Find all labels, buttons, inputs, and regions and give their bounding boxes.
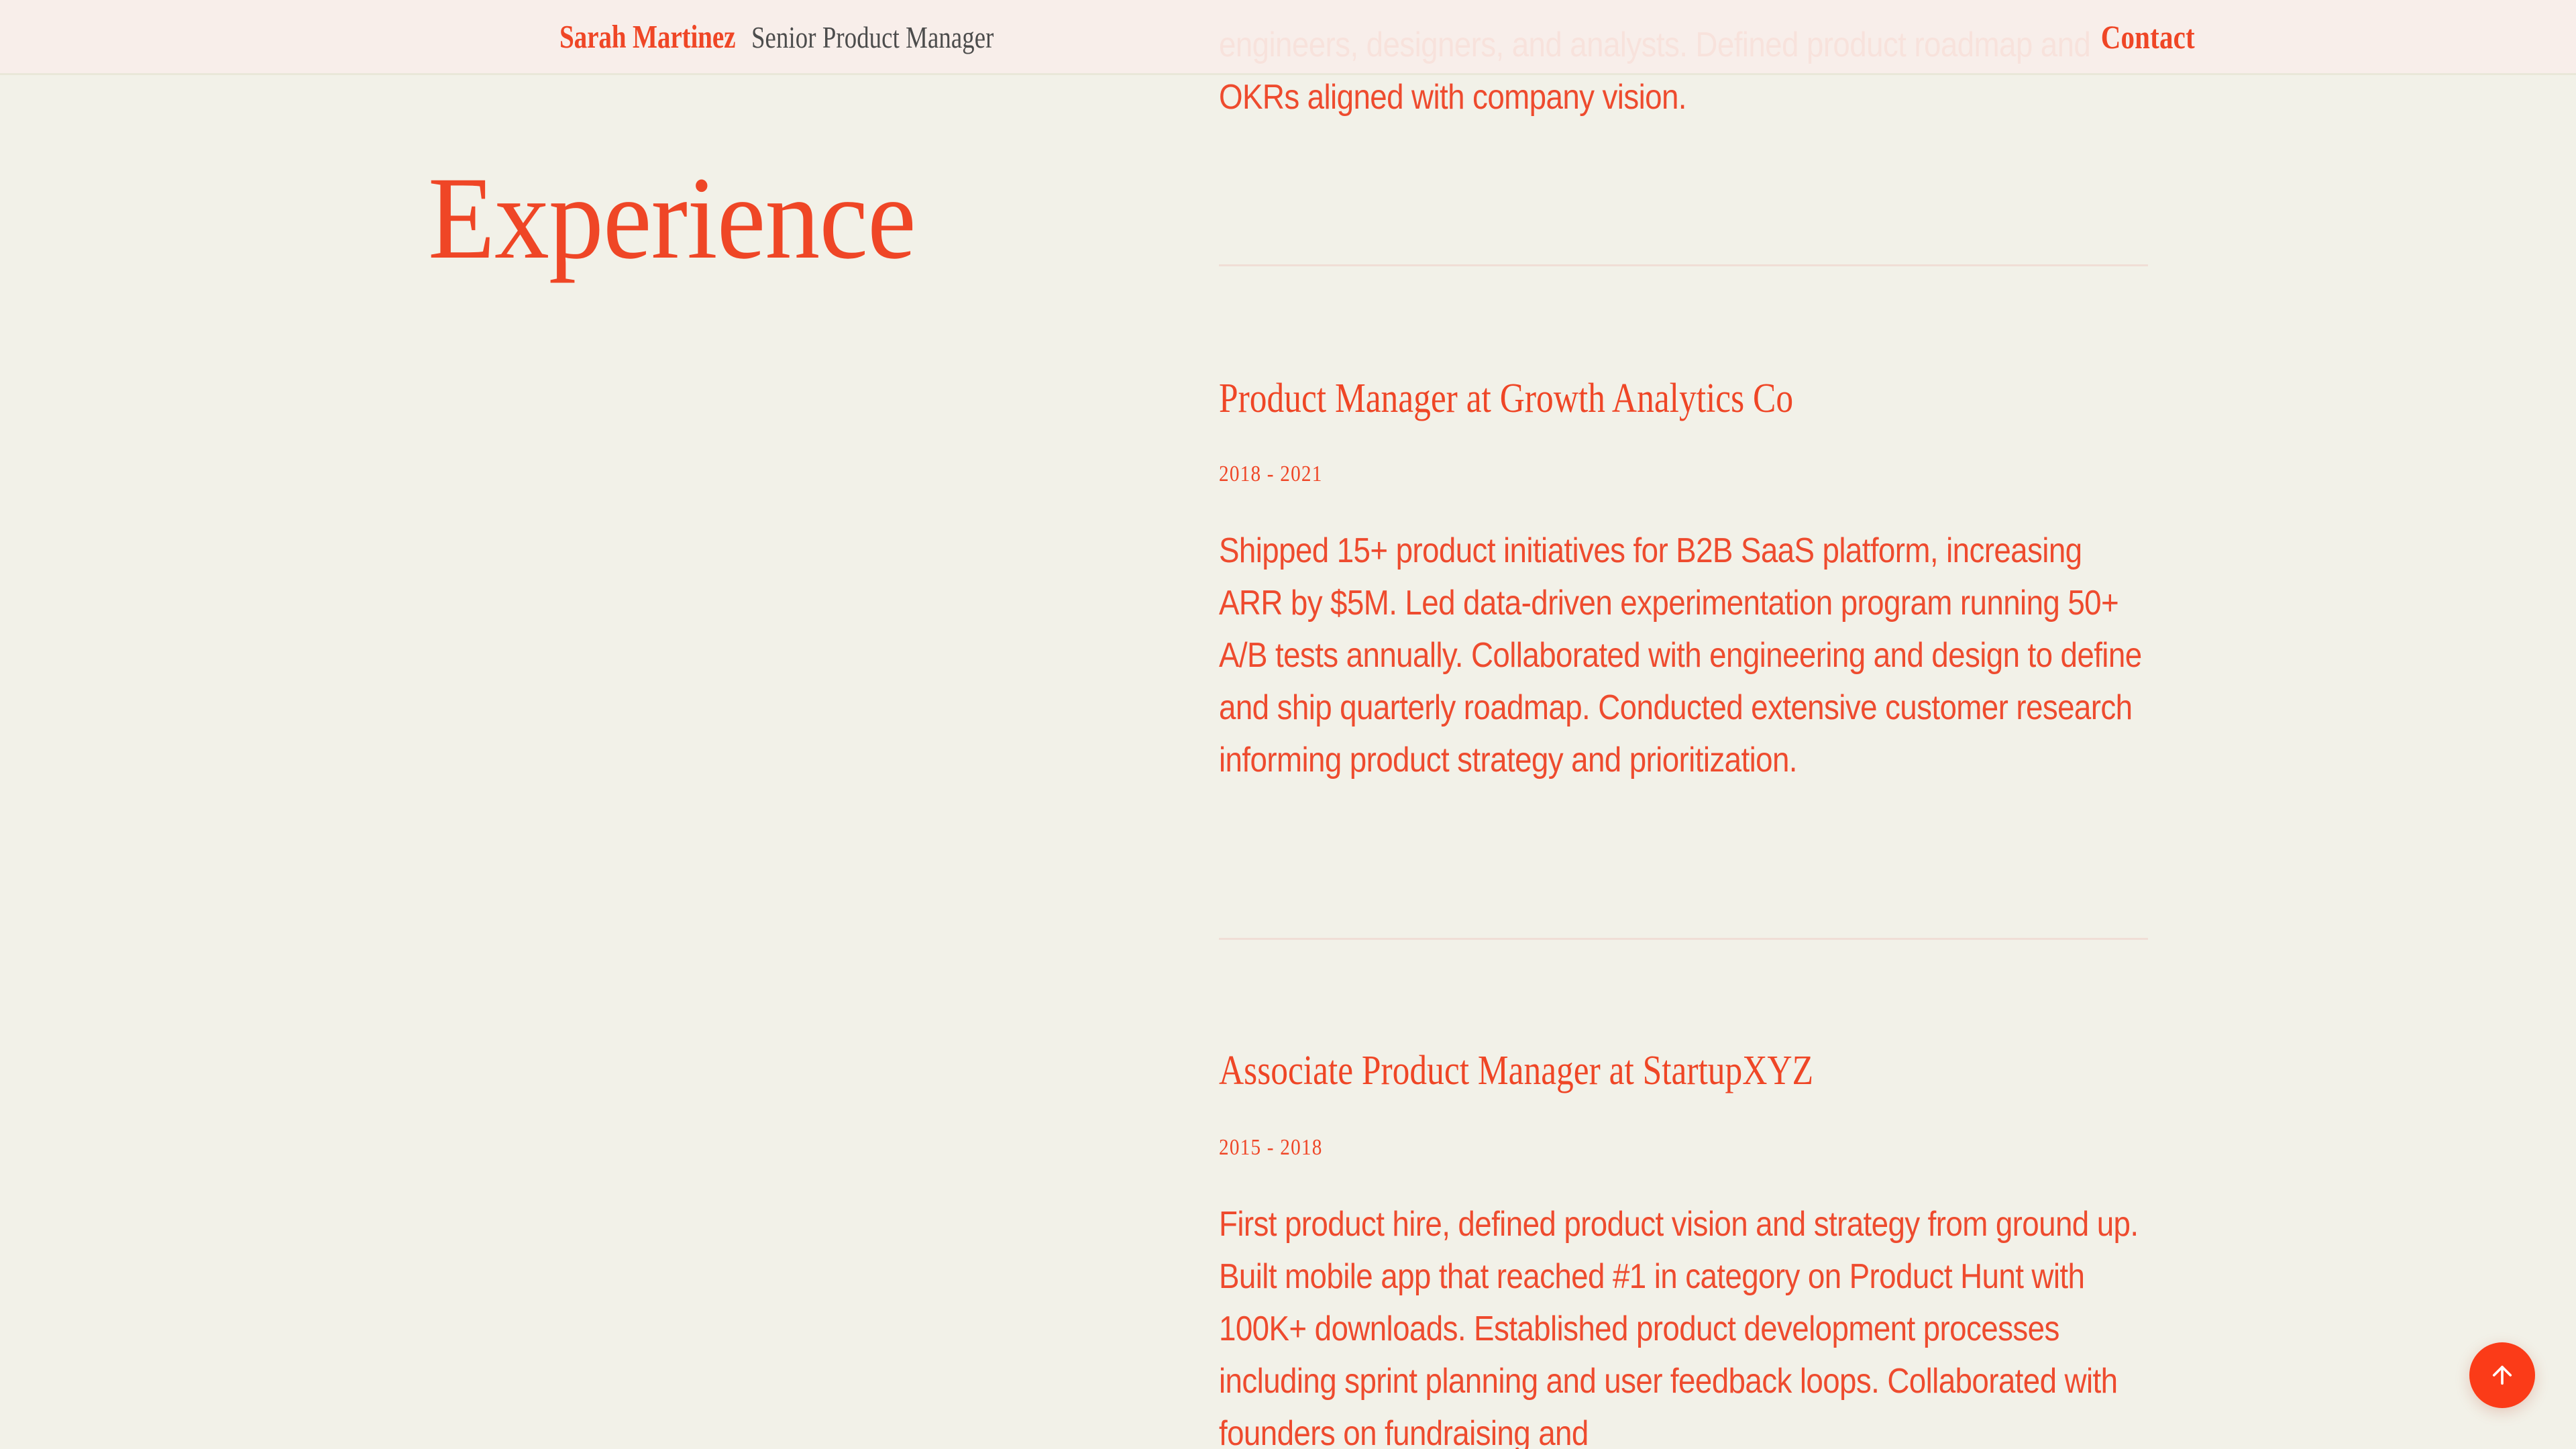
entry-description: First product hire, defined product visi… xyxy=(1219,1198,2147,1449)
entry-divider xyxy=(1219,264,2148,266)
experience-entry: Product Manager at Growth Analytics Co 2… xyxy=(1219,376,2148,421)
page-root: Experience engineers, designers, and ana… xyxy=(0,0,2576,1449)
nav-link-contact[interactable]: Contact xyxy=(2101,17,2195,56)
entry-dates: 2015 - 2018 xyxy=(1219,1136,1323,1159)
brand-name[interactable]: Sarah Martinez xyxy=(559,17,735,56)
entry-dates: 2018 - 2021 xyxy=(1219,463,1323,486)
page-title: Experience xyxy=(428,160,916,278)
entry-title: Associate Product Manager at StartupXYZ xyxy=(1219,1048,1990,1093)
scroll-to-top-button[interactable] xyxy=(2469,1342,2535,1408)
brand-role: Senior Product Manager xyxy=(751,19,994,55)
entry-description: Shipped 15+ product initiatives for B2B … xyxy=(1219,525,2147,786)
arrow-up-icon xyxy=(2488,1361,2516,1389)
brand[interactable]: Sarah Martinez Senior Product Manager xyxy=(559,17,1055,56)
site-header: Sarah Martinez Senior Product Manager Co… xyxy=(0,0,2576,75)
entry-divider xyxy=(1219,938,2148,940)
entry-title: Product Manager at Growth Analytics Co xyxy=(1219,376,1990,421)
experience-entry: Associate Product Manager at StartupXYZ … xyxy=(1219,1048,2148,1093)
